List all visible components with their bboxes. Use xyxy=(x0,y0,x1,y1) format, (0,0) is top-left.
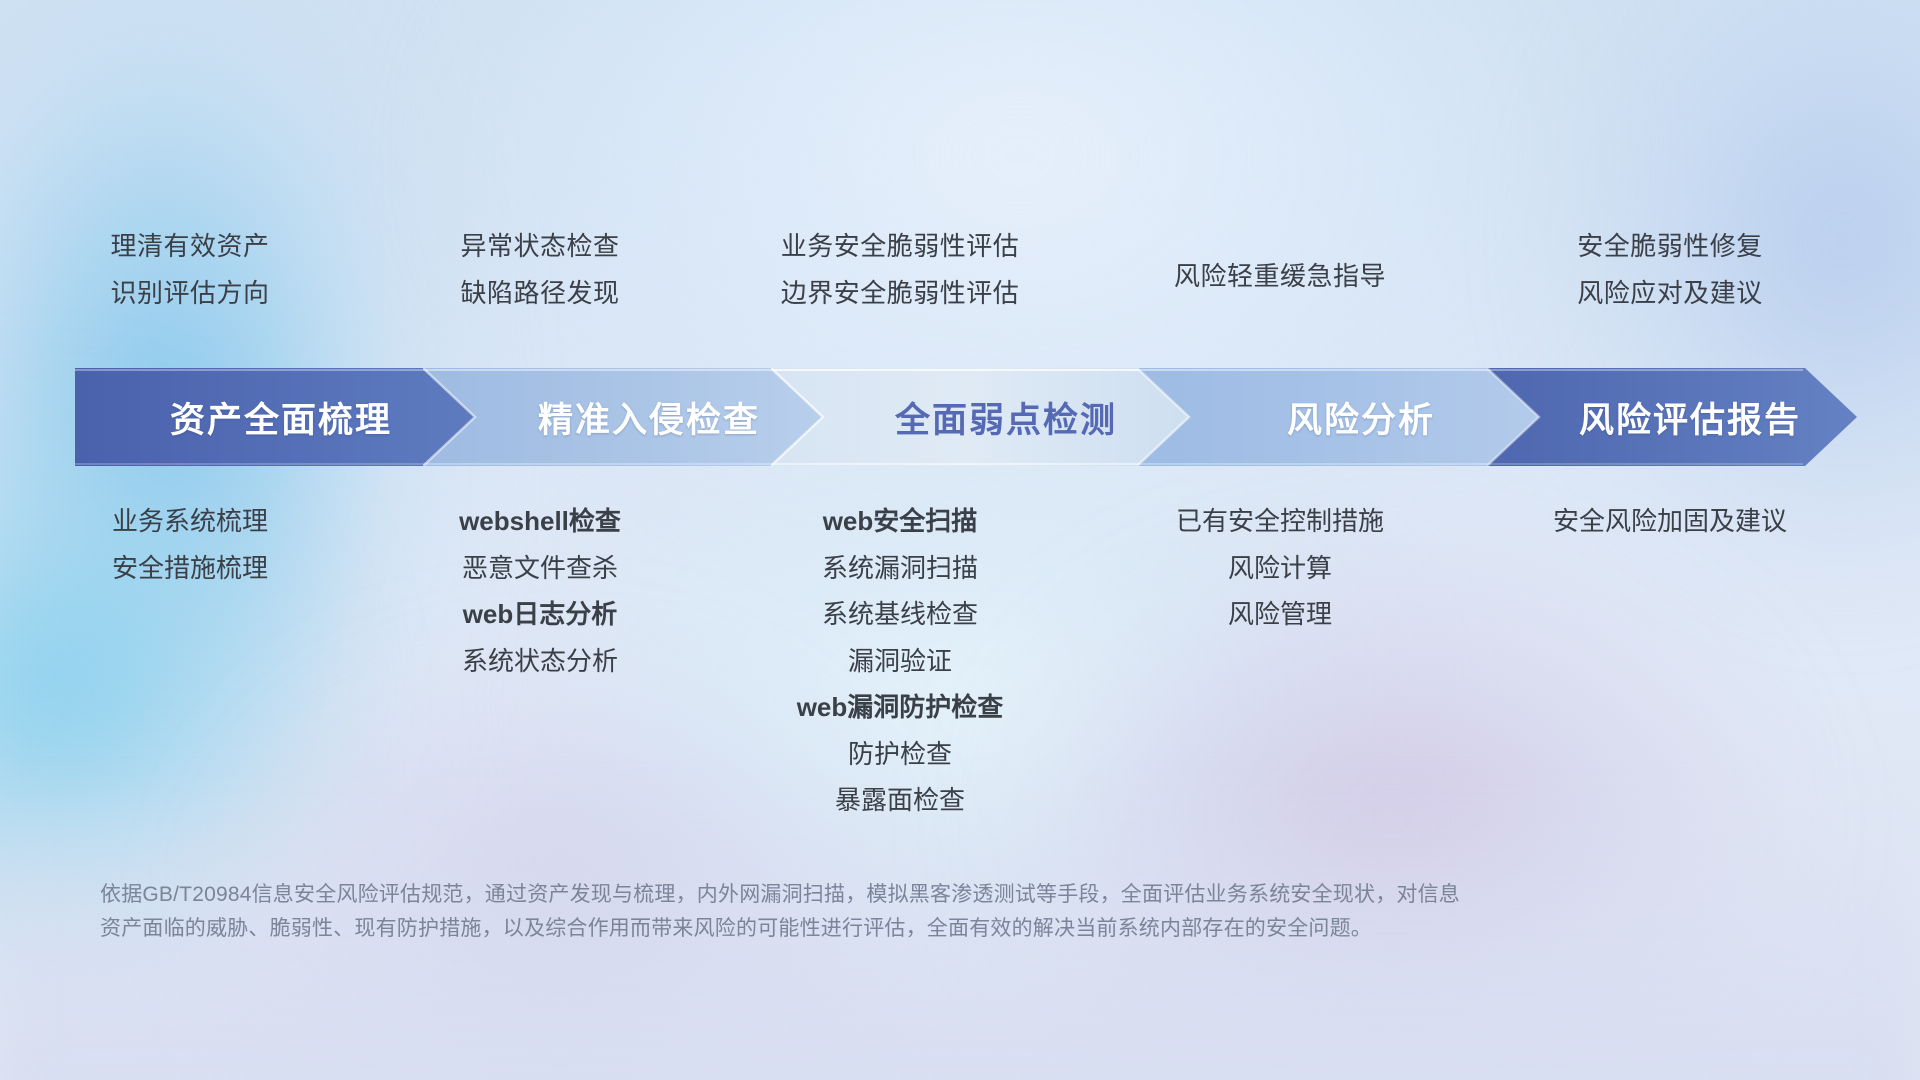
top-caption-column-2: 异常状态检查 缺陷路径发现 xyxy=(380,230,700,309)
stage-5-assessment-report[interactable]: 风险评估报告 xyxy=(1487,368,1857,466)
bottom-caption-item: 系统基线检查 xyxy=(822,598,978,631)
bottom-caption-column-2: webshell检查 恶意文件查杀 web日志分析 系统状态分析 xyxy=(380,505,700,677)
bottom-caption-item: 风险管理 xyxy=(1228,598,1332,631)
top-caption-column-1: 理清有效资产 识别评估方向 xyxy=(0,230,380,309)
top-caption-column-4: 风险轻重缓急指导 xyxy=(1100,230,1460,293)
stage-label: 风险评估报告 xyxy=(1543,392,1801,443)
top-caption-line: 风险轻重缓急指导 xyxy=(1174,260,1386,293)
bottom-caption-item: web安全扫描 xyxy=(823,505,978,538)
top-caption-column-5: 安全脆弱性修复 风险应对及建议 xyxy=(1460,230,1880,309)
bottom-caption-item: 安全措施梳理 xyxy=(112,552,268,585)
top-captions-row: 理清有效资产 识别评估方向 异常状态检查 缺陷路径发现 业务安全脆弱性评估 边界… xyxy=(0,230,1920,309)
stage-label: 精准入侵检查 xyxy=(498,392,760,443)
stage-label: 风险分析 xyxy=(1251,392,1435,443)
bottom-caption-item: 恶意文件查杀 xyxy=(462,552,618,585)
bottom-caption-item: web漏洞防护检查 xyxy=(797,691,1004,724)
top-caption-line: 异常状态检查 xyxy=(460,230,619,263)
stage-label: 资产全面梳理 xyxy=(170,392,392,443)
bottom-caption-item: web日志分析 xyxy=(463,598,618,631)
top-caption-line: 识别评估方向 xyxy=(110,277,269,310)
footer-description: 依据GB/T20984信息安全风险评估规范，通过资产发现与梳理，内外网漏洞扫描，… xyxy=(100,878,1740,946)
bottom-caption-item: 漏洞验证 xyxy=(848,645,952,678)
bottom-caption-item: 系统漏洞扫描 xyxy=(822,552,978,585)
footer-line-2: 资产面临的威胁、脆弱性、现有防护措施，以及综合作用而带来风险的可能性进行评估，全… xyxy=(100,912,1740,946)
bottom-caption-item: 已有安全控制措施 xyxy=(1176,505,1384,538)
footer-line-1: 依据GB/T20984信息安全风险评估规范，通过资产发现与梳理，内外网漏洞扫描，… xyxy=(100,878,1740,912)
top-caption-line: 理清有效资产 xyxy=(110,230,269,263)
bottom-caption-item: 系统状态分析 xyxy=(462,645,618,678)
bottom-caption-item: 暴露面检查 xyxy=(835,784,965,817)
bottom-caption-column-1: 业务系统梳理 安全措施梳理 xyxy=(0,505,380,584)
bottom-caption-item: 安全风险加固及建议 xyxy=(1553,505,1787,538)
top-caption-line: 业务安全脆弱性评估 xyxy=(781,230,1020,263)
top-caption-line: 安全脆弱性修复 xyxy=(1577,230,1763,263)
bottom-caption-item: 业务系统梳理 xyxy=(112,505,268,538)
bottom-caption-column-4: 已有安全控制措施 风险计算 风险管理 xyxy=(1100,505,1460,631)
stage-label: 全面弱点检测 xyxy=(855,392,1117,443)
bottom-caption-item: 风险计算 xyxy=(1228,552,1332,585)
bottom-caption-item: webshell检查 xyxy=(459,505,621,538)
bottom-caption-column-5: 安全风险加固及建议 xyxy=(1460,505,1880,538)
top-caption-line: 边界安全脆弱性评估 xyxy=(781,277,1020,310)
diagram-root: 理清有效资产 识别评估方向 异常状态检查 缺陷路径发现 业务安全脆弱性评估 边界… xyxy=(0,0,1920,1080)
bottom-caption-column-3: web安全扫描 系统漏洞扫描 系统基线检查 漏洞验证 web漏洞防护检查 防护检… xyxy=(700,505,1100,817)
bottom-captions-row: 业务系统梳理 安全措施梳理 webshell检查 恶意文件查杀 web日志分析 … xyxy=(0,505,1920,817)
top-caption-line: 缺陷路径发现 xyxy=(460,277,619,310)
top-caption-line: 风险应对及建议 xyxy=(1577,277,1763,310)
process-arrow-banner: 资产全面梳理 精准入侵检查 xyxy=(75,368,1857,466)
bottom-caption-item: 防护检查 xyxy=(848,738,952,771)
top-caption-column-3: 业务安全脆弱性评估 边界安全脆弱性评估 xyxy=(700,230,1100,309)
